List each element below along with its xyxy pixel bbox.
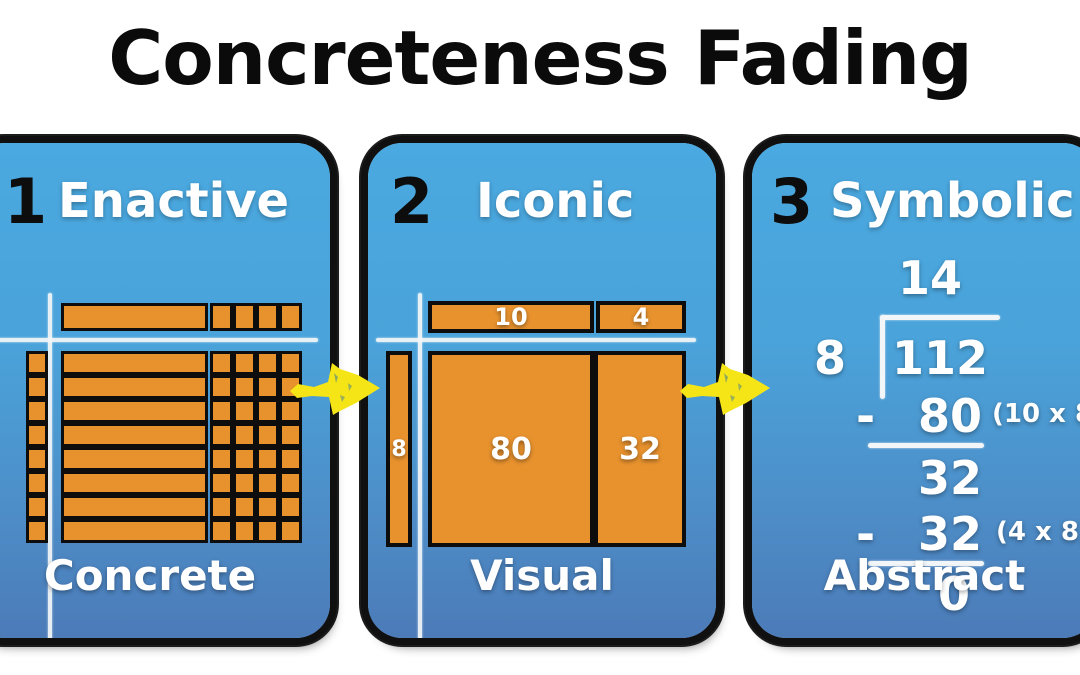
body-unit-cube — [233, 471, 256, 495]
body-unit-cube — [233, 423, 256, 447]
body-unit-cube — [279, 471, 302, 495]
body-unit-cube — [210, 375, 233, 399]
body-unit-cube — [256, 375, 279, 399]
division-note: (10 x 8) — [992, 401, 1080, 427]
body-unit-cube — [279, 519, 302, 543]
body-unit-cube — [256, 399, 279, 423]
division-bracket-stem — [880, 315, 885, 399]
panel-footer-label: Concrete — [0, 551, 330, 600]
body-unit-cube — [279, 423, 302, 447]
division-divisor: 8 — [814, 335, 846, 381]
side-unit-cube — [26, 399, 48, 423]
side-unit-cube — [26, 423, 48, 447]
top-label-four: 4 — [596, 301, 686, 333]
chalk-horizontal-axis — [376, 338, 696, 342]
division-subtrahend: 80 — [918, 393, 982, 439]
body-unit-cube — [233, 495, 256, 519]
body-unit-cube — [233, 351, 256, 375]
body-unit-cube — [233, 519, 256, 543]
division-quotient: 14 — [898, 255, 962, 301]
body-unit-cube — [233, 399, 256, 423]
body-unit-cube — [256, 495, 279, 519]
body-unit-cube — [233, 375, 256, 399]
panel-step-number: 2 — [390, 171, 433, 233]
body-unit-cube — [210, 471, 233, 495]
side-label-eight: 8 — [386, 351, 412, 547]
division-remainder: 32 — [918, 455, 982, 501]
body-ten-rod — [61, 495, 208, 519]
panel-stage-label: Iconic — [476, 177, 634, 225]
side-unit-cube — [26, 351, 48, 375]
panel-enactive: 1 Enactive Concrete — [0, 143, 330, 638]
area-label-eighty: 80 — [428, 351, 594, 547]
body-unit-cube — [210, 423, 233, 447]
body-unit-cube — [256, 471, 279, 495]
body-unit-cube — [279, 447, 302, 471]
panel-symbolic: 3 Symbolic 14 8 112 - 80 (10 x 8) 32 - 3… — [752, 143, 1080, 638]
side-unit-cube — [26, 447, 48, 471]
body-unit-cube — [210, 519, 233, 543]
panel-footer-label: Abstract — [752, 551, 1080, 600]
division-sign: - — [856, 393, 875, 439]
side-unit-cube — [26, 519, 48, 543]
top-unit-cube — [279, 303, 302, 331]
body-unit-cube — [256, 519, 279, 543]
top-ten-rod — [61, 303, 208, 331]
top-unit-cube — [233, 303, 256, 331]
body-unit-cube — [210, 495, 233, 519]
panel-step-number: 1 — [4, 171, 47, 233]
panel-stage-label: Enactive — [58, 177, 289, 225]
body-ten-rod — [61, 423, 208, 447]
body-unit-cube — [279, 495, 302, 519]
side-unit-cube — [26, 471, 48, 495]
top-label-ten: 10 — [428, 301, 594, 333]
division-dividend: 112 — [892, 335, 988, 381]
concreteness-fading-diagram: Concreteness Fading 1 Enactive — [0, 0, 1080, 675]
body-unit-cube — [256, 351, 279, 375]
arrow-enactive-to-iconic-icon — [288, 357, 384, 419]
panel-stage-label: Symbolic — [830, 177, 1075, 225]
body-unit-cube — [256, 447, 279, 471]
top-unit-cube — [256, 303, 279, 331]
arrow-iconic-to-symbolic-icon — [678, 357, 774, 419]
panel-iconic: 2 Iconic 10 4 8 80 32 Visual — [368, 143, 716, 638]
page-title: Concreteness Fading — [0, 14, 1080, 102]
division-bracket-top — [880, 315, 1000, 320]
panel-step-number: 3 — [770, 171, 813, 233]
body-unit-cube — [210, 399, 233, 423]
body-unit-cube — [210, 447, 233, 471]
body-unit-cube — [210, 351, 233, 375]
side-unit-cube — [26, 375, 48, 399]
chalk-horizontal-axis — [0, 338, 318, 342]
body-unit-cube — [233, 447, 256, 471]
body-ten-rod — [61, 399, 208, 423]
body-ten-rod — [61, 351, 208, 375]
side-unit-cube — [26, 495, 48, 519]
body-ten-rod — [61, 447, 208, 471]
body-ten-rod — [61, 471, 208, 495]
body-unit-cube — [256, 423, 279, 447]
body-ten-rod — [61, 375, 208, 399]
panel-footer-label: Visual — [368, 551, 716, 600]
division-note: (4 x 8) — [996, 519, 1080, 545]
division-rule — [868, 443, 984, 448]
body-ten-rod — [61, 519, 208, 543]
area-label-thirtytwo: 32 — [594, 351, 686, 547]
top-unit-cube — [210, 303, 233, 331]
